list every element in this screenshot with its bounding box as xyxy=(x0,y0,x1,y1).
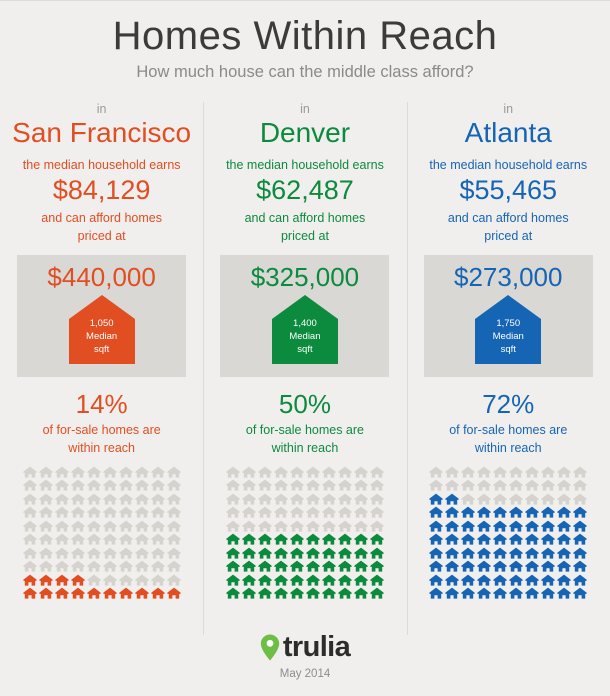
house-icon-filled xyxy=(524,560,540,574)
house-icon-filled xyxy=(273,533,289,547)
city-column-denver: in Denver the median household earns $62… xyxy=(203,98,406,638)
house-icon-empty xyxy=(54,547,70,561)
house-icon-filled xyxy=(492,520,508,534)
house-icon-filled xyxy=(572,547,588,561)
house-icon-empty xyxy=(86,479,102,493)
house-icon-filled xyxy=(476,506,492,520)
footer: trulia May 2014 xyxy=(0,633,610,680)
median-sqft-house: 1,400 Median sqft xyxy=(272,295,338,364)
house-icon-empty xyxy=(225,520,241,534)
median-income-label: the median household earns xyxy=(407,158,610,172)
house-icon-empty xyxy=(118,506,134,520)
house-icon-filled xyxy=(305,547,321,561)
house-icon-filled xyxy=(572,506,588,520)
house-icon-empty xyxy=(321,506,337,520)
price-panel: $325,000 1,400 Median sqft xyxy=(220,255,389,377)
house-icon-empty xyxy=(273,493,289,507)
house-icon-empty xyxy=(22,506,38,520)
house-icon-empty xyxy=(273,520,289,534)
in-label: in xyxy=(0,102,203,116)
house-icon-filled xyxy=(150,587,166,601)
house-icon-empty xyxy=(118,547,134,561)
house-icon-filled xyxy=(369,560,385,574)
house-icon-empty xyxy=(337,520,353,534)
house-icon-empty xyxy=(166,574,182,588)
house-icon-empty xyxy=(337,493,353,507)
afford-label: and can afford homes priced at xyxy=(203,209,406,245)
house-icon-filled xyxy=(556,574,572,588)
median-sqft-text: 1,050 Median sqft xyxy=(69,317,135,356)
house-icon-filled xyxy=(492,574,508,588)
in-label: in xyxy=(407,102,610,116)
house-icon-empty xyxy=(70,493,86,507)
house-icon-empty xyxy=(118,574,134,588)
house-icon-empty xyxy=(134,574,150,588)
house-icon-empty xyxy=(102,466,118,480)
house-icon-filled xyxy=(428,587,444,601)
house-icon-filled xyxy=(428,520,444,534)
median-income-value: $62,487 xyxy=(203,176,406,206)
house-icon-empty xyxy=(289,466,305,480)
trulia-logo: trulia xyxy=(0,633,610,662)
house-icon-empty xyxy=(22,547,38,561)
median-sqft-unit: sqft xyxy=(475,343,541,356)
within-reach-label-line2: within reach xyxy=(0,439,203,457)
house-icon-empty xyxy=(369,520,385,534)
house-icon-empty xyxy=(321,479,337,493)
house-icon-filled xyxy=(444,560,460,574)
afford-label: and can afford homes priced at xyxy=(407,209,610,245)
house-icon-filled xyxy=(225,533,241,547)
house-icon-empty xyxy=(257,493,273,507)
house-icon-empty xyxy=(118,466,134,480)
city-column-san-francisco: in San Francisco the median household ea… xyxy=(0,98,203,638)
house-icon-filled xyxy=(321,547,337,561)
pictogram-grid xyxy=(22,466,182,601)
house-icon-empty xyxy=(134,547,150,561)
house-icon-empty xyxy=(524,493,540,507)
house-icon-empty xyxy=(134,506,150,520)
house-icon-empty xyxy=(508,493,524,507)
house-icon-empty xyxy=(86,506,102,520)
house-icon-empty xyxy=(572,479,588,493)
house-icon-empty xyxy=(241,479,257,493)
house-icon-empty xyxy=(369,506,385,520)
house-icon-empty xyxy=(273,506,289,520)
within-reach-label: of for-sale homes are within reach xyxy=(407,421,610,457)
house-icon-filled xyxy=(369,547,385,561)
house-icon-empty xyxy=(556,466,572,480)
house-icon-empty xyxy=(150,466,166,480)
house-icon-empty xyxy=(540,493,556,507)
house-icon-filled xyxy=(460,560,476,574)
affordable-price-value: $440,000 xyxy=(17,255,186,292)
house-icon-empty xyxy=(476,466,492,480)
house-icon-empty xyxy=(508,466,524,480)
house-icon-empty xyxy=(118,520,134,534)
house-icon-empty xyxy=(225,479,241,493)
house-icon-filled xyxy=(540,574,556,588)
house-icon-empty xyxy=(102,506,118,520)
house-icon-empty xyxy=(476,479,492,493)
house-icon-filled xyxy=(86,587,102,601)
house-icon-empty xyxy=(166,560,182,574)
house-icon-filled xyxy=(556,506,572,520)
afford-label-line1: and can afford homes xyxy=(407,209,610,227)
pictogram-grid xyxy=(428,466,588,601)
house-icon-empty xyxy=(572,466,588,480)
house-icon-filled xyxy=(257,533,273,547)
house-icon-filled xyxy=(444,587,460,601)
in-label: in xyxy=(203,102,406,116)
house-icon-empty xyxy=(305,493,321,507)
house-icon-empty xyxy=(70,466,86,480)
house-icon-empty xyxy=(305,506,321,520)
price-panel: $273,000 1,750 Median sqft xyxy=(424,255,593,377)
house-icon-empty xyxy=(369,466,385,480)
house-icon-filled xyxy=(54,587,70,601)
house-icon-filled xyxy=(369,533,385,547)
house-icon-filled xyxy=(54,574,70,588)
median-sqft-house: 1,750 Median sqft xyxy=(475,295,541,364)
house-icon-empty xyxy=(102,560,118,574)
house-icon-empty xyxy=(86,574,102,588)
city-name: Atlanta xyxy=(407,117,610,149)
house-icon-filled xyxy=(556,560,572,574)
house-icon-empty xyxy=(102,547,118,561)
house-icon-empty xyxy=(134,533,150,547)
house-icon-empty xyxy=(257,466,273,480)
header: Homes Within Reach How much house can th… xyxy=(0,1,610,82)
house-icon-filled xyxy=(476,533,492,547)
house-icon-filled xyxy=(524,520,540,534)
house-icon-filled xyxy=(524,574,540,588)
house-icon-empty xyxy=(540,466,556,480)
house-icon-filled xyxy=(241,587,257,601)
house-icon-filled xyxy=(540,587,556,601)
house-icon-filled xyxy=(444,533,460,547)
median-sqft-word: Median xyxy=(69,330,135,343)
house-icon-filled xyxy=(225,560,241,574)
house-icon-filled xyxy=(524,533,540,547)
house-icon-filled xyxy=(305,560,321,574)
house-icon-filled xyxy=(273,587,289,601)
house-icon-filled xyxy=(572,533,588,547)
house-icon-filled xyxy=(476,520,492,534)
house-icon-empty xyxy=(337,466,353,480)
house-icon-empty xyxy=(54,533,70,547)
house-icon-empty xyxy=(225,506,241,520)
house-icon-empty xyxy=(54,466,70,480)
within-reach-label-line1: of for-sale homes are xyxy=(407,421,610,439)
house-icon-filled xyxy=(257,574,273,588)
house-icon-empty xyxy=(428,466,444,480)
house-icon-filled xyxy=(225,587,241,601)
house-icon-filled xyxy=(337,574,353,588)
house-icon-filled xyxy=(428,560,444,574)
within-reach-percent: 50% xyxy=(203,390,406,419)
median-sqft-text: 1,400 Median sqft xyxy=(272,317,338,356)
house-icon-filled xyxy=(225,574,241,588)
median-income-value: $84,129 xyxy=(0,176,203,206)
house-icon-empty xyxy=(22,493,38,507)
within-reach-label-line1: of for-sale homes are xyxy=(0,421,203,439)
house-icon-empty xyxy=(460,479,476,493)
pictogram-grid xyxy=(225,466,385,601)
house-icon-empty xyxy=(54,520,70,534)
house-icon-empty xyxy=(524,466,540,480)
house-icon-filled xyxy=(460,574,476,588)
city-columns: in San Francisco the median household ea… xyxy=(0,98,610,638)
house-icon-filled xyxy=(241,560,257,574)
house-icon-empty xyxy=(134,520,150,534)
house-icon-empty xyxy=(86,493,102,507)
house-icon-empty xyxy=(305,466,321,480)
house-icon-empty xyxy=(305,520,321,534)
house-icon-empty xyxy=(150,506,166,520)
house-icon-filled xyxy=(572,560,588,574)
house-icon-filled xyxy=(70,574,86,588)
house-icon-filled xyxy=(38,587,54,601)
house-icon-empty xyxy=(70,506,86,520)
house-icon-empty xyxy=(476,493,492,507)
house-icon-filled xyxy=(540,533,556,547)
house-icon-filled xyxy=(508,587,524,601)
house-icon-empty xyxy=(321,520,337,534)
within-reach-label-line2: within reach xyxy=(203,439,406,457)
house-icon-empty xyxy=(22,520,38,534)
house-icon-filled xyxy=(289,574,305,588)
house-icon-empty xyxy=(38,466,54,480)
house-icon-empty xyxy=(118,533,134,547)
house-icon-empty xyxy=(257,520,273,534)
city-name: San Francisco xyxy=(0,117,203,149)
median-sqft-value: 1,400 xyxy=(272,317,338,330)
house-icon-empty xyxy=(225,493,241,507)
house-icon-empty xyxy=(54,506,70,520)
house-icon-filled xyxy=(428,506,444,520)
house-icon-empty xyxy=(150,493,166,507)
house-icon-filled xyxy=(70,587,86,601)
median-sqft-value: 1,050 xyxy=(69,317,135,330)
house-icon-filled xyxy=(225,547,241,561)
house-icon-empty xyxy=(134,479,150,493)
infographic-page: Homes Within Reach How much house can th… xyxy=(0,0,610,696)
within-reach-label: of for-sale homes are within reach xyxy=(203,421,406,457)
house-icon-empty xyxy=(38,547,54,561)
house-icon-empty xyxy=(257,506,273,520)
house-icon-filled xyxy=(273,574,289,588)
house-icon-empty xyxy=(70,560,86,574)
house-icon-empty xyxy=(70,533,86,547)
house-icon-filled xyxy=(508,574,524,588)
house-icon-filled xyxy=(353,560,369,574)
house-icon-empty xyxy=(289,506,305,520)
house-icon-empty xyxy=(54,560,70,574)
house-icon-empty xyxy=(102,533,118,547)
house-icon-filled xyxy=(572,574,588,588)
house-icon-empty xyxy=(150,547,166,561)
house-icon-empty xyxy=(70,547,86,561)
house-icon-empty xyxy=(289,493,305,507)
house-icon-filled xyxy=(428,547,444,561)
house-icon-filled xyxy=(492,506,508,520)
house-icon-empty xyxy=(86,547,102,561)
house-icon-filled xyxy=(241,533,257,547)
house-icon-empty xyxy=(54,493,70,507)
house-icon-empty xyxy=(166,479,182,493)
house-icon-empty xyxy=(241,466,257,480)
afford-label-line1: and can afford homes xyxy=(203,209,406,227)
house-icon-filled xyxy=(353,587,369,601)
house-icon-filled xyxy=(289,587,305,601)
house-icon-filled xyxy=(492,560,508,574)
house-icon-filled xyxy=(273,547,289,561)
city-name: Denver xyxy=(203,117,406,149)
house-icon-filled xyxy=(305,574,321,588)
house-icon-empty xyxy=(257,479,273,493)
house-icon-empty xyxy=(289,479,305,493)
house-icon-empty xyxy=(150,479,166,493)
house-icon-empty xyxy=(86,533,102,547)
house-icon-filled xyxy=(556,587,572,601)
house-icon-empty xyxy=(134,493,150,507)
house-icon-filled xyxy=(524,506,540,520)
house-icon-empty xyxy=(428,479,444,493)
house-icon-empty xyxy=(134,560,150,574)
house-icon-filled xyxy=(353,533,369,547)
house-icon-filled xyxy=(476,574,492,588)
house-icon-filled xyxy=(540,506,556,520)
house-icon-empty xyxy=(150,560,166,574)
house-icon-filled xyxy=(508,533,524,547)
house-icon-filled xyxy=(444,520,460,534)
house-icon-empty xyxy=(289,520,305,534)
house-icon-empty xyxy=(166,533,182,547)
house-icon-empty xyxy=(102,493,118,507)
house-icon-filled xyxy=(273,560,289,574)
within-reach-label: of for-sale homes are within reach xyxy=(0,421,203,457)
house-icon-empty xyxy=(444,466,460,480)
house-icon-filled xyxy=(572,520,588,534)
median-income-label: the median household earns xyxy=(203,158,406,172)
house-icon-filled xyxy=(369,574,385,588)
house-icon-filled xyxy=(257,587,273,601)
house-icon-filled xyxy=(257,560,273,574)
house-icon-empty xyxy=(70,520,86,534)
house-icon-filled xyxy=(460,547,476,561)
afford-label-line2: priced at xyxy=(0,227,203,245)
house-icon-filled xyxy=(337,547,353,561)
afford-label-line1: and can afford homes xyxy=(0,209,203,227)
house-icon-empty xyxy=(353,493,369,507)
within-reach-label-line2: within reach xyxy=(407,439,610,457)
house-icon-filled xyxy=(337,587,353,601)
house-icon-filled xyxy=(444,547,460,561)
house-icon-filled xyxy=(289,560,305,574)
afford-label: and can afford homes priced at xyxy=(0,209,203,245)
house-icon-empty xyxy=(134,466,150,480)
publication-date: May 2014 xyxy=(0,668,610,680)
house-icon-filled xyxy=(460,587,476,601)
house-icon-filled xyxy=(508,520,524,534)
house-icon-empty xyxy=(369,493,385,507)
house-icon-filled xyxy=(337,533,353,547)
house-icon-empty xyxy=(150,520,166,534)
house-icon-filled xyxy=(492,533,508,547)
affordable-price-value: $325,000 xyxy=(220,255,389,292)
house-icon-empty xyxy=(86,520,102,534)
house-icon-filled xyxy=(428,533,444,547)
house-icon-filled xyxy=(166,587,182,601)
house-icon-empty xyxy=(241,493,257,507)
house-icon-filled xyxy=(524,587,540,601)
median-sqft-house: 1,050 Median sqft xyxy=(69,295,135,364)
house-icon-filled xyxy=(444,574,460,588)
house-icon-empty xyxy=(524,479,540,493)
house-icon-filled xyxy=(257,547,273,561)
house-icon-empty xyxy=(241,520,257,534)
house-icon-empty xyxy=(492,493,508,507)
house-icon-filled xyxy=(476,560,492,574)
house-icon-filled xyxy=(241,547,257,561)
house-icon-empty xyxy=(166,466,182,480)
house-icon-filled xyxy=(353,547,369,561)
house-icon-empty xyxy=(54,479,70,493)
house-icon-filled xyxy=(369,587,385,601)
house-icon-empty xyxy=(273,466,289,480)
house-icon-empty xyxy=(22,466,38,480)
house-icon-empty xyxy=(321,493,337,507)
median-sqft-unit: sqft xyxy=(272,343,338,356)
house-icon-filled xyxy=(508,506,524,520)
house-icon-filled xyxy=(305,587,321,601)
house-icon-empty xyxy=(556,479,572,493)
median-sqft-text: 1,750 Median sqft xyxy=(475,317,541,356)
house-icon-filled xyxy=(492,547,508,561)
house-icon-filled xyxy=(321,560,337,574)
house-icon-filled xyxy=(321,533,337,547)
house-icon-filled xyxy=(556,520,572,534)
house-icon-empty xyxy=(353,479,369,493)
house-icon-empty xyxy=(460,466,476,480)
house-icon-empty xyxy=(38,560,54,574)
house-icon-empty xyxy=(444,479,460,493)
house-icon-empty xyxy=(38,479,54,493)
house-icon-empty xyxy=(166,493,182,507)
house-icon-filled xyxy=(38,574,54,588)
house-icon-empty xyxy=(150,533,166,547)
house-icon-empty xyxy=(86,466,102,480)
house-icon-filled xyxy=(476,547,492,561)
house-icon-filled xyxy=(22,574,38,588)
house-icon-filled xyxy=(118,587,134,601)
house-icon-empty xyxy=(460,493,476,507)
city-column-atlanta: in Atlanta the median household earns $5… xyxy=(407,98,610,638)
house-icon-filled xyxy=(540,520,556,534)
house-icon-empty xyxy=(86,560,102,574)
house-icon-filled xyxy=(540,560,556,574)
median-income-label: the median household earns xyxy=(0,158,203,172)
house-icon-filled xyxy=(428,493,444,507)
house-icon-filled xyxy=(22,587,38,601)
house-icon-filled xyxy=(241,574,257,588)
affordable-price-value: $273,000 xyxy=(424,255,593,292)
house-icon-filled xyxy=(102,587,118,601)
house-icon-empty xyxy=(22,533,38,547)
map-pin-icon xyxy=(260,634,280,661)
house-icon-empty xyxy=(353,520,369,534)
